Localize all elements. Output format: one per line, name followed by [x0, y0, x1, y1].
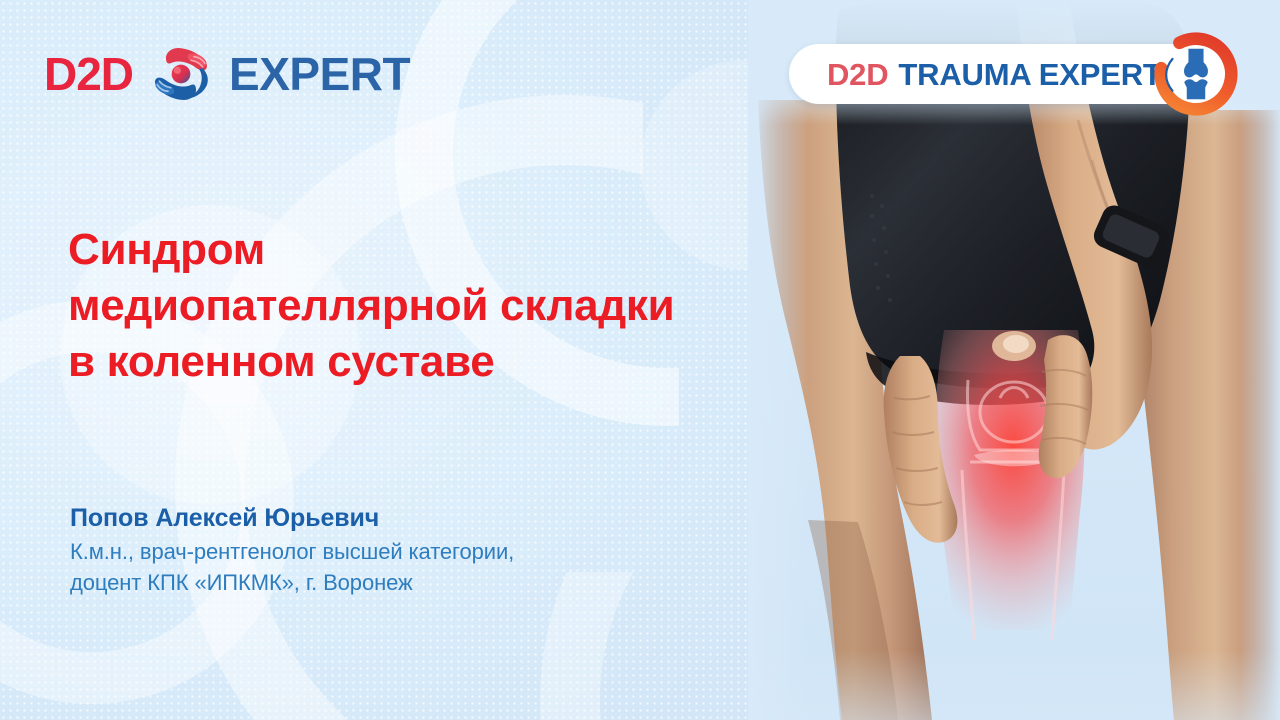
- title-line: медиопателлярной складки: [68, 278, 838, 334]
- presenter-credentials-line-2: доцент КПК «ИПКМК», г. Воронеж: [70, 567, 514, 598]
- d2d-trauma-expert-badge[interactable]: D2D TRAUMA EXPERT: [789, 44, 1226, 104]
- presenter-name: Попов Алексей Юрьевич: [70, 500, 514, 536]
- logo-expert-text: EXPERT: [229, 51, 410, 97]
- presentation-slide: D2D EXPERT: [0, 0, 1280, 720]
- knee-joint-icon: [1154, 32, 1238, 116]
- hands-circle-logo-icon: [145, 38, 217, 110]
- d2d-expert-logo[interactable]: D2D EXPERT: [44, 38, 410, 110]
- title-line: в коленном суставе: [68, 334, 838, 390]
- slide-title: Синдром медиопателлярной складки в колен…: [68, 222, 838, 390]
- title-line: Синдром: [68, 222, 838, 278]
- logo-d2d-text: D2D: [44, 51, 133, 97]
- presenter-block: Попов Алексей Юрьевич К.м.н., врач-рентг…: [70, 500, 514, 598]
- badge-d2d-text: D2D: [827, 59, 888, 90]
- badge-title-text: TRAUMA EXPERT: [898, 59, 1161, 90]
- presenter-credentials-line-1: К.м.н., врач-рентгенолог высшей категори…: [70, 536, 514, 567]
